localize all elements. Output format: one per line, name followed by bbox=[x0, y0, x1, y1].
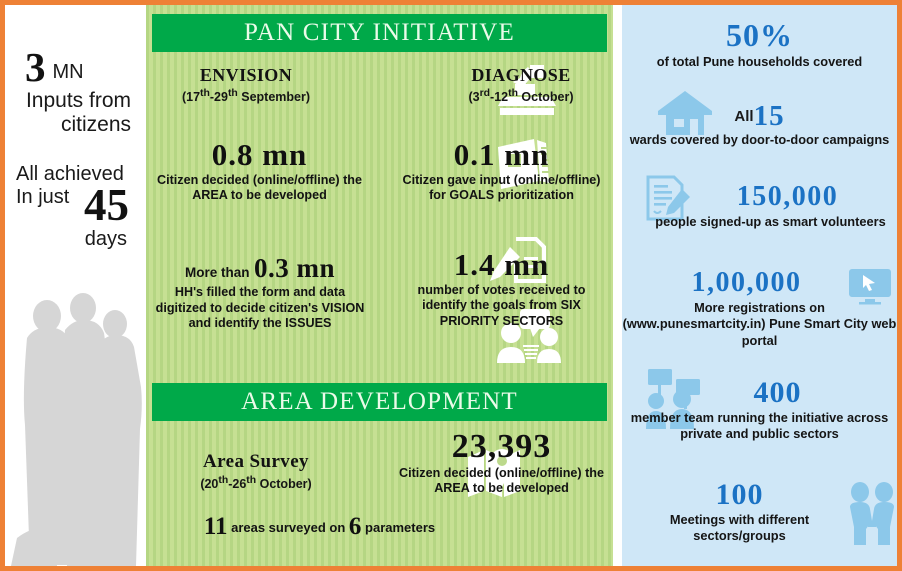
stat-wards-desc: wards covered by door-to-door campaigns bbox=[622, 132, 897, 148]
stat-hh-forms-number: 0.3 mn bbox=[254, 253, 335, 283]
stat-volunteers-number: 150,000 bbox=[678, 181, 897, 213]
inputs-stat-line: 3MN bbox=[13, 47, 134, 88]
stat-area-citizens-desc: Citizen decided (online/offline) the ARE… bbox=[394, 466, 609, 497]
stat-hh-forms-number-line: More than 0.3 mn bbox=[150, 253, 370, 284]
stat-wards-number-line: All15 bbox=[622, 101, 897, 131]
stat-hh-forms: More than 0.3 mn HH's filled the form an… bbox=[150, 253, 370, 332]
stat-area-decided-number: 0.8 mn bbox=[152, 139, 367, 172]
stat-area-citizens: 23,393 Citizen decided (online/offline) … bbox=[394, 429, 609, 497]
inputs-stat-desc: Inputs from citizens bbox=[13, 89, 134, 136]
area-survey-heading: Area Survey bbox=[166, 451, 346, 473]
green-content-panel: PAN CITY INITIATIVE ENVISION (17th-29th … bbox=[146, 5, 613, 566]
stat-hh-forms-prefix: More than bbox=[185, 265, 250, 280]
stat-votes-desc: number of votes received to identify the… bbox=[394, 283, 609, 330]
handshake-icon bbox=[846, 481, 897, 545]
stat-wards-covered: All15 wards covered by door-to-door camp… bbox=[622, 101, 897, 149]
stat-goals-input-desc: Citizen gave input (online/offline) for … bbox=[394, 173, 609, 204]
parameters-label: parameters bbox=[365, 520, 435, 535]
phase-envision: ENVISION (17th-29th September) bbox=[166, 65, 326, 104]
stat-hh-forms-desc: HH's filled the form and data digitized … bbox=[150, 285, 370, 332]
area-survey-dates: (20th-26th October) bbox=[166, 475, 346, 491]
stat-households-number: 50% bbox=[622, 19, 897, 53]
pan-city-title-bar: PAN CITY INITIATIVE bbox=[152, 14, 607, 52]
area-survey-block: Area Survey (20th-26th October) bbox=[166, 451, 346, 491]
phase-diagnose-name: DIAGNOSE bbox=[431, 65, 611, 86]
parameters-count: 6 bbox=[349, 513, 362, 540]
infographic-frame: 3MN Inputs from citizens All achieved In… bbox=[0, 0, 902, 571]
stat-registrations-number: 1,00,000 bbox=[622, 267, 871, 299]
stat-goals-input: 0.1 mn Citizen gave input (online/offlin… bbox=[394, 139, 609, 204]
stat-area-citizens-number: 23,393 bbox=[394, 429, 609, 465]
area-development-title-bar: AREA DEVELOPMENT bbox=[152, 383, 607, 421]
stat-registrations-desc: More registrations on (www.punesmartcity… bbox=[622, 300, 897, 349]
inputs-stat-unit: MN bbox=[46, 61, 84, 83]
phase-envision-name: ENVISION bbox=[166, 65, 326, 86]
stat-wards-number: 15 bbox=[754, 100, 785, 132]
stat-meetings-number: 100 bbox=[622, 479, 857, 511]
stat-meetings-desc: Meetings with different sectors/groups bbox=[622, 512, 857, 545]
stat-votes-number: 1.4 mn bbox=[394, 249, 609, 282]
crowd-silhouette-icon bbox=[11, 286, 142, 566]
stat-team-members: 400 member team running the initiative a… bbox=[622, 377, 897, 442]
area-development-title: AREA DEVELOPMENT bbox=[241, 388, 518, 416]
stat-households-desc: of total Pune households covered bbox=[622, 54, 897, 70]
stat-volunteers-desc: people signed-up as smart volunteers bbox=[644, 214, 897, 230]
stat-wards-prefix: All bbox=[734, 108, 753, 125]
areas-surveyed-mid: areas surveyed on bbox=[231, 520, 345, 535]
stat-team-desc: member team running the initiative acros… bbox=[622, 410, 897, 443]
phase-diagnose: DIAGNOSE (3rd-12th October) bbox=[431, 65, 611, 104]
stat-votes: 1.4 mn number of votes received to ident… bbox=[394, 249, 609, 330]
stat-team-number: 400 bbox=[658, 377, 897, 409]
stat-area-decided: 0.8 mn Citizen decided (online/offline) … bbox=[152, 139, 367, 204]
areas-surveyed-line: 11 areas surveyed on 6 parameters bbox=[146, 513, 553, 541]
phase-envision-dates: (17th-29th September) bbox=[166, 88, 326, 104]
stat-households-covered: 50% of total Pune households covered bbox=[622, 19, 897, 70]
inputs-stat-number: 3 bbox=[25, 44, 46, 90]
pan-city-title: PAN CITY INITIATIVE bbox=[244, 19, 515, 47]
left-panel-text: 3MN Inputs from citizens All achieved In… bbox=[5, 5, 142, 250]
areas-surveyed-count: 11 bbox=[204, 513, 228, 540]
stat-volunteers: 150,000 people signed-up as smart volunt… bbox=[644, 181, 897, 230]
left-summary-panel: 3MN Inputs from citizens All achieved In… bbox=[5, 5, 142, 566]
stat-goals-input-number: 0.1 mn bbox=[394, 139, 609, 172]
days-number: 45 bbox=[84, 180, 129, 230]
phase-diagnose-dates: (3rd-12th October) bbox=[431, 88, 611, 104]
stat-registrations: 1,00,000 More registrations on (www.pune… bbox=[622, 267, 897, 349]
days-label: days bbox=[13, 228, 134, 250]
stat-area-decided-desc: Citizen decided (online/offline) the ARE… bbox=[152, 173, 367, 204]
blue-stats-panel: 50% of total Pune households covered All… bbox=[622, 5, 897, 566]
